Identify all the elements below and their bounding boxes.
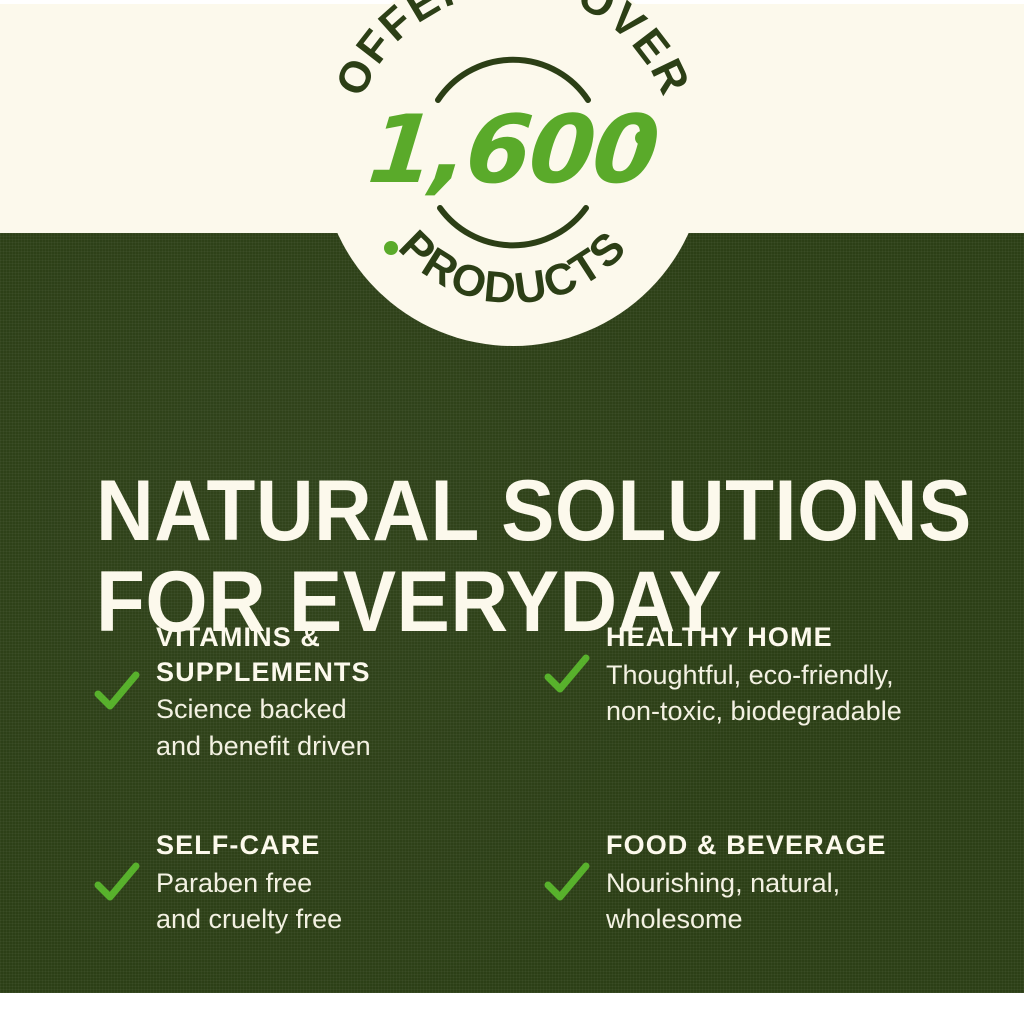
check-icon (94, 669, 140, 715)
feature-description: Nourishing, natural, wholesome (606, 865, 994, 938)
feature-desc-line-1: Thoughtful, eco-friendly, (606, 657, 994, 694)
feature-desc-line-1: Science backed (156, 691, 514, 728)
feature-description: Thoughtful, eco-friendly, non-toxic, bio… (606, 657, 994, 730)
headline-line-1: NATURAL SOLUTIONS (96, 466, 914, 557)
feature-item-self-care: SELF-CARE Paraben free and cruelty free (94, 828, 514, 938)
feature-item-vitamins-supplements: VITAMINS & SUPPLEMENTS Science backed an… (94, 620, 514, 765)
product-count-badge: OFFERING OVER PRODUCTS 1,600 (320, 0, 706, 346)
badge-graphics: OFFERING OVER PRODUCTS (320, 0, 706, 346)
feature-description: Paraben free and cruelty free (156, 865, 514, 938)
badge-upper-arc-decor (438, 60, 588, 100)
feature-desc-line-2: and cruelty free (156, 901, 514, 938)
badge-top-arc-label: OFFERING OVER (326, 0, 699, 103)
feature-title-line-1: FOOD & BEVERAGE (606, 828, 994, 863)
promo-banner: OFFERING OVER PRODUCTS 1,600 NATURAL SOL… (0, 0, 1024, 1024)
feature-title-line-1: HEALTHY HOME (606, 620, 994, 655)
badge-right-dot-icon (635, 131, 649, 145)
badge-lower-arc-decor (440, 208, 586, 245)
feature-title: FOOD & BEVERAGE (606, 828, 994, 863)
feature-title-line-2: SUPPLEMENTS (156, 655, 514, 690)
feature-list: VITAMINS & SUPPLEMENTS Science backed an… (0, 620, 1024, 970)
badge-left-dot-icon (384, 241, 398, 255)
check-icon (544, 652, 590, 698)
feature-desc-line-1: Nourishing, natural, (606, 865, 994, 902)
check-icon (94, 860, 140, 906)
feature-desc-line-2: and benefit driven (156, 728, 514, 765)
feature-title-line-1: VITAMINS & (156, 620, 514, 655)
badge-bottom-arc-label: PRODUCTS (390, 221, 637, 314)
feature-title: VITAMINS & SUPPLEMENTS (156, 620, 514, 689)
feature-desc-line-1: Paraben free (156, 865, 514, 902)
feature-text: FOOD & BEVERAGE Nourishing, natural, who… (606, 828, 994, 938)
feature-title: SELF-CARE (156, 828, 514, 863)
feature-text: VITAMINS & SUPPLEMENTS Science backed an… (156, 620, 514, 765)
feature-title: HEALTHY HOME (606, 620, 994, 655)
feature-desc-line-2: wholesome (606, 901, 994, 938)
feature-title-line-1: SELF-CARE (156, 828, 514, 863)
feature-item-food-beverage: FOOD & BEVERAGE Nourishing, natural, who… (544, 828, 994, 938)
check-icon (544, 860, 590, 906)
feature-description: Science backed and benefit driven (156, 691, 514, 764)
feature-item-healthy-home: HEALTHY HOME Thoughtful, eco-friendly, n… (544, 620, 994, 730)
feature-desc-line-2: non-toxic, biodegradable (606, 693, 994, 730)
feature-text: SELF-CARE Paraben free and cruelty free (156, 828, 514, 938)
feature-text: HEALTHY HOME Thoughtful, eco-friendly, n… (606, 620, 994, 730)
